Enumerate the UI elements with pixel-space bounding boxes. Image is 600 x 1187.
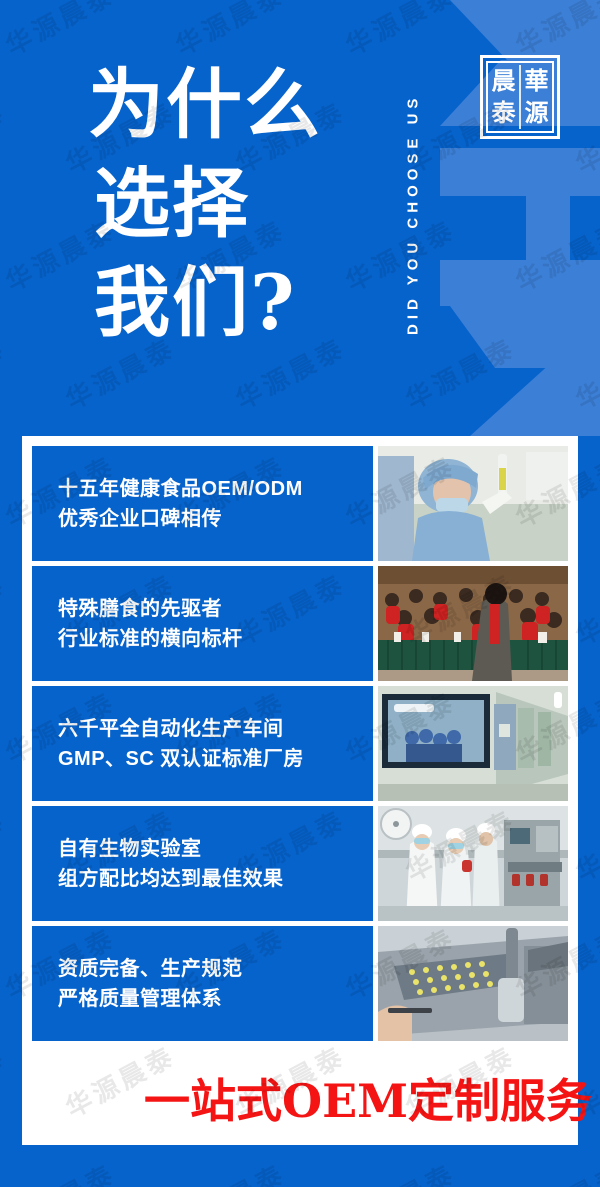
feature-line-1: 特殊膳食的先驱者 <box>58 594 373 624</box>
seal-col-right: 華 源 <box>523 65 550 129</box>
vertical-english-caption: DID YOU CHOOSE US <box>398 14 428 414</box>
feature-card-5: 资质完备、生产规范 严格质量管理体系 <box>32 926 373 1041</box>
photo-blister-packing-machine <box>378 926 568 1041</box>
feature-line-1: 自有生物实验室 <box>58 834 373 864</box>
feature-line-2: 行业标准的横向标杆 <box>58 624 373 654</box>
watermark-tile: 华源晨泰 <box>0 1154 122 1187</box>
list-item: 资质完备、生产规范 严格质量管理体系 <box>32 926 568 1041</box>
feature-card-2: 特殊膳食的先驱者 行业标准的横向标杆 <box>32 566 373 681</box>
list-item: 特殊膳食的先驱者 行业标准的横向标杆 <box>32 566 568 681</box>
list-item: 十五年健康食品OEM/ODM 优秀企业口碑相传 <box>32 446 568 561</box>
seal-glyph: 源 <box>525 101 549 125</box>
poster-root: DID YOU CHOOSE US 晨 泰 華 源 为什么 选择 我们? 十五年… <box>0 0 600 1187</box>
seal-glyph: 泰 <box>492 101 516 125</box>
watermark-tile: 华源晨泰 <box>0 0 122 63</box>
watermark-tile: 华源晨泰 <box>0 564 12 653</box>
list-item: 自有生物实验室 组方配比均达到最佳效果 <box>32 806 568 921</box>
seal-divider <box>519 65 521 129</box>
feature-line-2: 组方配比均达到最佳效果 <box>58 864 373 894</box>
title-line-3: 我们? <box>88 254 388 353</box>
feature-line-1: 资质完备、生产规范 <box>58 954 373 984</box>
footer-slogan: 一站式OEM定制服务 <box>144 1065 592 1131</box>
watermark-tile: 华源晨泰 <box>168 0 291 63</box>
feature-card-1: 十五年健康食品OEM/ODM 优秀企业口碑相传 <box>32 446 373 561</box>
title-line-2: 选择 <box>88 155 388 254</box>
watermark-tile: 华源晨泰 <box>0 328 12 417</box>
title-line-1: 为什么 <box>88 56 388 155</box>
feature-line-1: 六千平全自动化生产车间 <box>58 714 373 744</box>
feature-line-2: GMP、SC 双认证标准厂房 <box>58 744 373 774</box>
feature-list: 十五年健康食品OEM/ODM 优秀企业口碑相传 <box>32 446 568 1041</box>
footer-banner: 晨 泰 華 源 一站式OEM定制服务 <box>22 1050 578 1145</box>
photo-lab-technician <box>378 446 568 561</box>
feature-line-1: 十五年健康食品OEM/ODM <box>58 474 373 504</box>
feature-panel: 十五年健康食品OEM/ODM 优秀企业口碑相传 <box>22 436 578 1145</box>
watermark-tile: 华源晨泰 <box>0 92 12 181</box>
watermark-tile: 华源晨泰 <box>508 1154 600 1187</box>
feature-line-2: 严格质量管理体系 <box>58 984 373 1014</box>
watermark-tile: 华源晨泰 <box>0 800 12 889</box>
feature-card-3: 六千平全自动化生产车间 GMP、SC 双认证标准厂房 <box>32 686 373 801</box>
photo-conference-audience <box>378 566 568 681</box>
feature-card-4: 自有生物实验室 组方配比均达到最佳效果 <box>32 806 373 921</box>
seal-glyph: 晨 <box>492 69 516 93</box>
brand-seal-logo: 晨 泰 華 源 <box>480 55 560 139</box>
page-title: 为什么 选择 我们? <box>88 56 388 352</box>
seal-glyph: 華 <box>525 69 549 93</box>
watermark-tile: 华源晨泰 <box>0 1036 12 1125</box>
list-item: 六千平全自动化生产车间 GMP、SC 双认证标准厂房 <box>32 686 568 801</box>
watermark-tile: 华源晨泰 <box>338 1154 461 1187</box>
photo-cleanroom-corridor <box>378 686 568 801</box>
watermark-tile: 华源晨泰 <box>168 1154 291 1187</box>
seal-col-left: 晨 泰 <box>490 65 517 129</box>
feature-line-2: 优秀企业口碑相传 <box>58 504 373 534</box>
photo-production-line-workers <box>378 806 568 921</box>
